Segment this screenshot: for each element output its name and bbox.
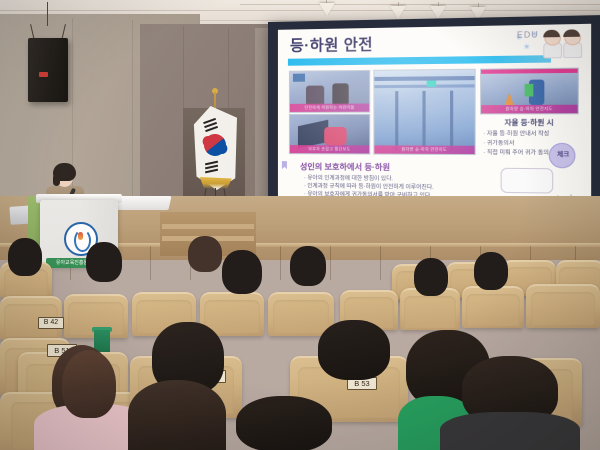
ceiling-light-icon (430, 6, 446, 19)
seat (526, 284, 600, 328)
seat (462, 286, 524, 328)
slide-title: 등·하원 안전 (290, 33, 373, 56)
photo-caption: 원차량 승·하차 안전지도 (374, 145, 474, 154)
slide-photo-3: 원차량 승·하차 안전지도 (374, 70, 474, 154)
presenter-hair-side (53, 174, 60, 186)
photo-caption: 안전하게 하원하는 어린이들 (290, 104, 369, 112)
audience-head (474, 252, 508, 290)
slide-photo-2: 보호자 손잡고 횡단보도 (290, 115, 369, 154)
photo-caption: 보호자 손잡고 횡단보도 (290, 145, 369, 153)
bottom-block-heading: 성인의 보호하에서 등·하원 (300, 161, 390, 173)
audience-head (86, 242, 122, 282)
audience-head (290, 246, 326, 286)
audience-head (8, 238, 42, 276)
seat-plate: B 42 (38, 317, 64, 329)
jbl-logo-icon (39, 72, 48, 77)
slide-photo-1: 안전하게 하원하는 어린이들 (290, 71, 369, 112)
edu-sign-label: EDU (503, 30, 553, 181)
ceiling-light-icon (390, 6, 406, 19)
jbl-ceiling-speaker (28, 38, 68, 102)
audience-head (236, 396, 332, 450)
auditorium-photo: 등·하원 안전 ✳ ✳ ✳ 안전하게 하원하는 어린이들 (0, 0, 600, 450)
audience-head (222, 250, 262, 294)
presentation-slide: 등·하원 안전 ✳ ✳ ✳ 안전하게 하원하는 어린이들 (278, 24, 591, 213)
audience-head (188, 236, 222, 272)
badge-label: 체크 (551, 149, 575, 159)
seat (268, 292, 334, 336)
audience-head (318, 320, 390, 380)
ceiling-light-icon (319, 3, 335, 16)
speaker-suspension-wire (47, 2, 48, 26)
audience-head (128, 380, 226, 450)
audience-head (62, 350, 116, 418)
audience-head (414, 258, 448, 296)
audience-shoulders (440, 412, 580, 450)
